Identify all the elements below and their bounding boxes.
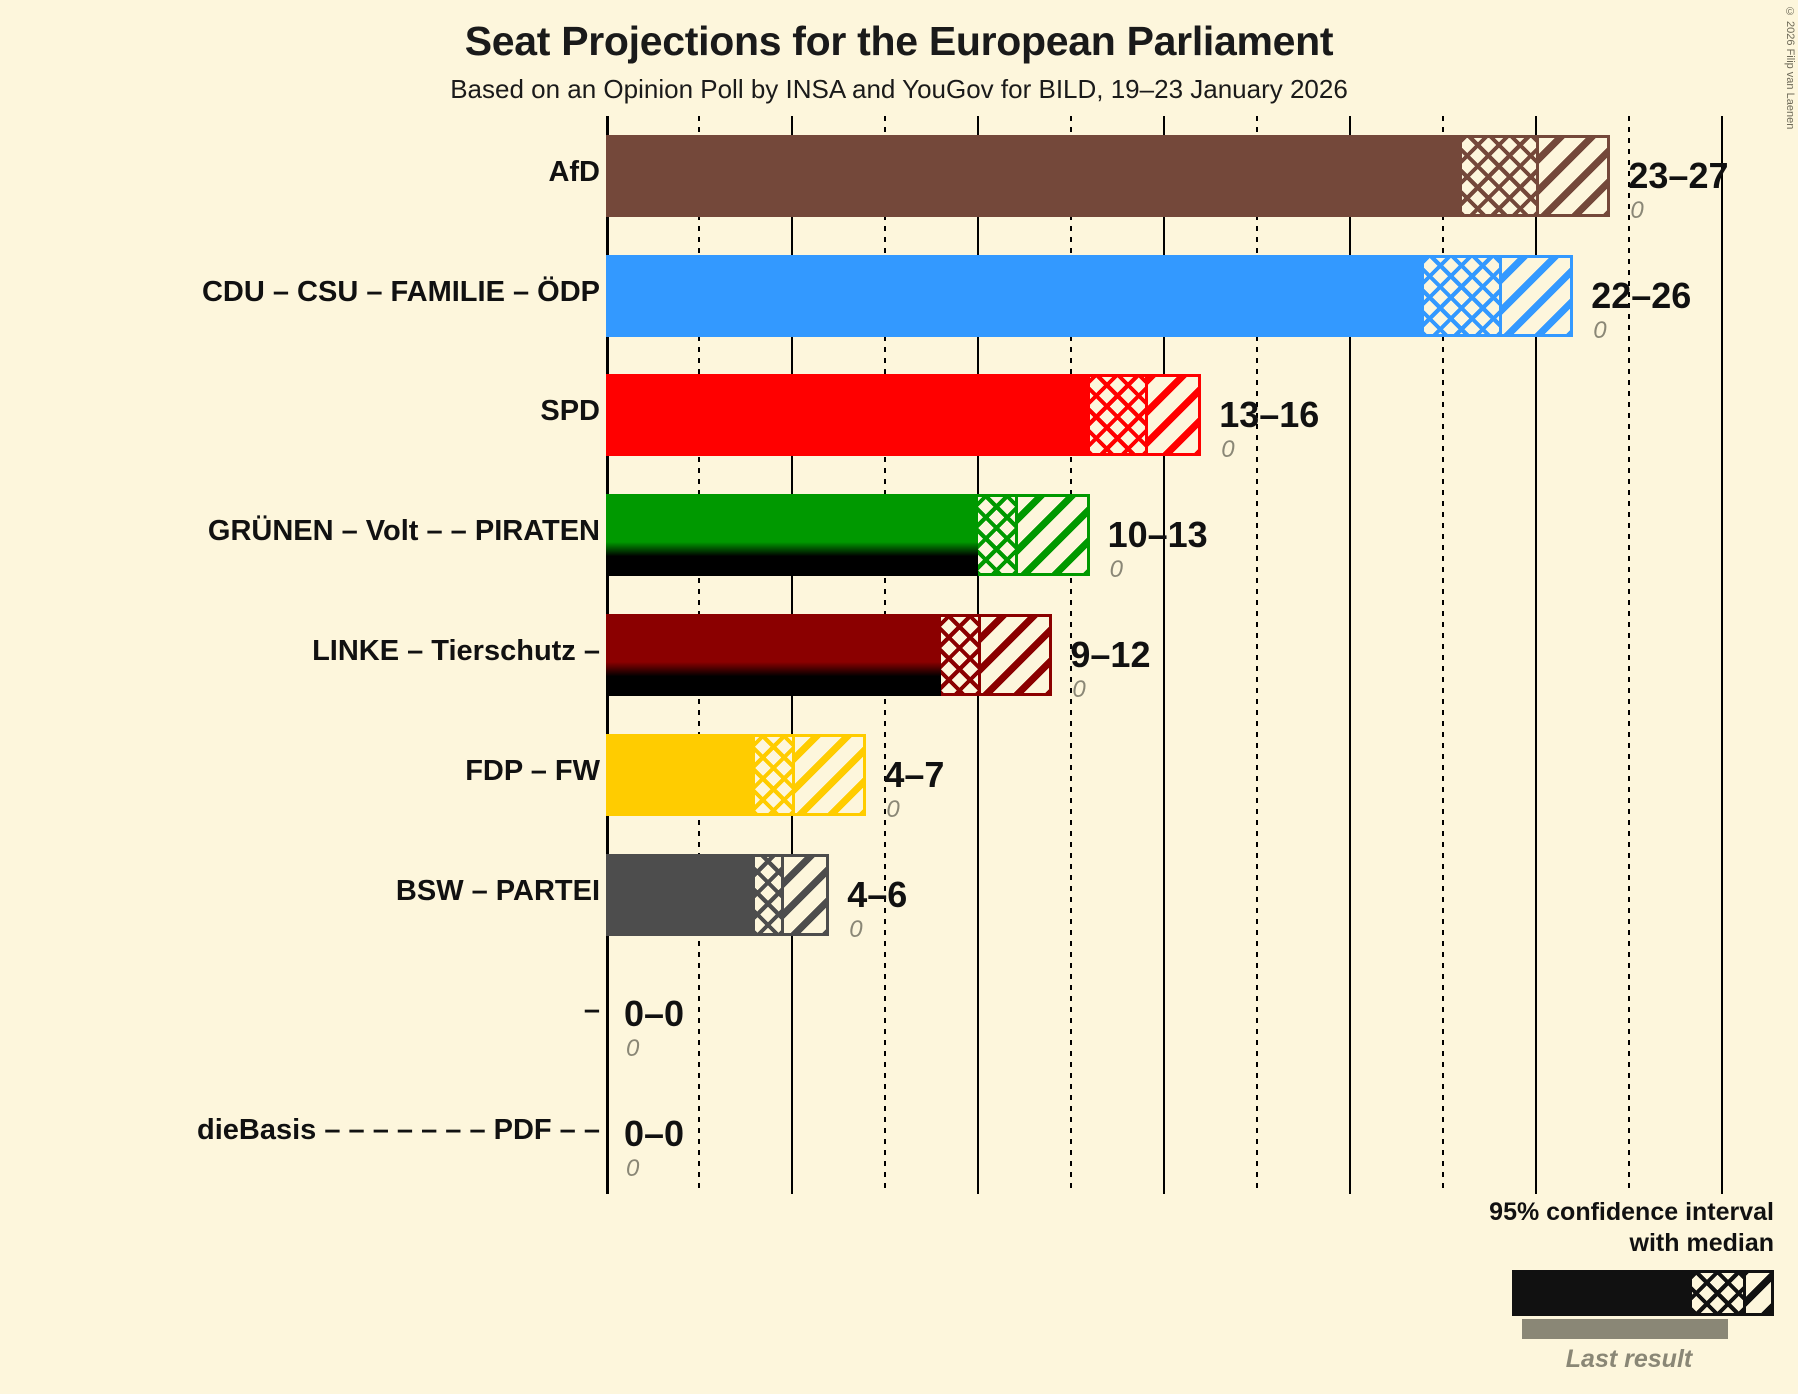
bar-value-0: 23–27 (1628, 155, 1728, 197)
bar-value-1: 22–26 (1591, 275, 1691, 317)
bar-5 (606, 734, 866, 816)
bar-value-4: 9–12 (1070, 634, 1150, 676)
bar-diagonal-segment (1015, 494, 1089, 576)
bar-last-result-6: 0 (849, 916, 862, 944)
bar-0 (606, 135, 1610, 217)
gridline-major (1721, 116, 1723, 1194)
bar-solid-segment (606, 135, 1462, 217)
legend-title: 95% confidence interval with median (1474, 1197, 1774, 1258)
bar-1 (606, 255, 1573, 337)
bar-crosshatch-segment (1462, 135, 1536, 217)
bar-diagonal-segment (1499, 255, 1573, 337)
bar-diagonal-segment (792, 734, 866, 816)
bar-solid-segment (606, 374, 1090, 456)
bar-crosshatch-segment (755, 854, 781, 936)
bar-last-result-1: 0 (1593, 317, 1606, 345)
bar-last-result-5: 0 (886, 796, 899, 824)
bar-crosshatch-segment (978, 494, 1015, 576)
legend-line-1: 95% confidence interval (1474, 1197, 1774, 1228)
bar-crosshatch-segment (1424, 255, 1498, 337)
legend-line-2: with median (1474, 1228, 1774, 1259)
bar-3 (606, 494, 1090, 576)
legend: 95% confidence interval with median Last… (1474, 1197, 1774, 1374)
legend-median-segment (1515, 1273, 1689, 1313)
bar-value-7: 0–0 (624, 993, 684, 1035)
bar-last-result-overlay (606, 662, 941, 696)
legend-last-result-bar (1522, 1319, 1728, 1339)
bar-label-4: LINKE – Tierschutz – (312, 635, 600, 668)
bar-last-result-3: 0 (1110, 556, 1123, 584)
bar-label-6: BSW – PARTEI (396, 875, 600, 908)
bar-label-2: SPD (540, 395, 600, 428)
bar-solid-segment (606, 734, 755, 816)
bar-solid-segment (606, 854, 755, 936)
bar-crosshatch-segment (1090, 374, 1146, 456)
bar-value-8: 0–0 (624, 1113, 684, 1155)
legend-sample-bar (1512, 1270, 1774, 1316)
bar-last-result-8: 0 (626, 1155, 639, 1183)
legend-last-result-label: Last result (1502, 1345, 1756, 1374)
bar-2 (606, 374, 1201, 456)
legend-diagonal-segment (1743, 1273, 1771, 1313)
bar-label-3: GRÜNEN – Volt – – PIRATEN (208, 515, 600, 548)
chart-root: Seat Projections for the European Parlia… (0, 0, 1798, 1394)
bar-value-5: 4–7 (884, 754, 944, 796)
bar-label-7: – (584, 994, 600, 1027)
page-title: Seat Projections for the European Parlia… (0, 18, 1798, 65)
bar-last-result-overlay (606, 542, 978, 576)
chart-subtitle: Based on an Opinion Poll by INSA and You… (0, 74, 1798, 105)
bar-value-3: 10–13 (1108, 514, 1208, 556)
bar-diagonal-segment (978, 614, 1052, 696)
bar-diagonal-segment (1145, 374, 1201, 456)
bar-6 (606, 854, 829, 936)
bar-value-6: 4–6 (847, 874, 907, 916)
bar-diagonal-segment (1536, 135, 1610, 217)
bar-label-0: AfD (548, 156, 600, 189)
bar-last-result-7: 0 (626, 1035, 639, 1063)
copyright-notice: © 2026 Filip van Laenen (1784, 6, 1796, 129)
bar-label-5: FDP – FW (465, 755, 600, 788)
bar-crosshatch-segment (755, 734, 792, 816)
bar-4 (606, 614, 1052, 696)
bar-label-8: dieBasis – – – – – – – PDF – – (197, 1114, 600, 1147)
bar-last-result-2: 0 (1221, 436, 1234, 464)
bar-diagonal-segment (781, 854, 829, 936)
bar-last-result-4: 0 (1072, 676, 1085, 704)
bar-label-1: CDU – CSU – FAMILIE – ÖDP (202, 276, 600, 309)
bar-last-result-0: 0 (1630, 197, 1643, 225)
bar-crosshatch-segment (941, 614, 978, 696)
legend-crosshatch-segment (1689, 1273, 1743, 1313)
bar-value-2: 13–16 (1219, 394, 1319, 436)
bar-solid-segment (606, 255, 1424, 337)
